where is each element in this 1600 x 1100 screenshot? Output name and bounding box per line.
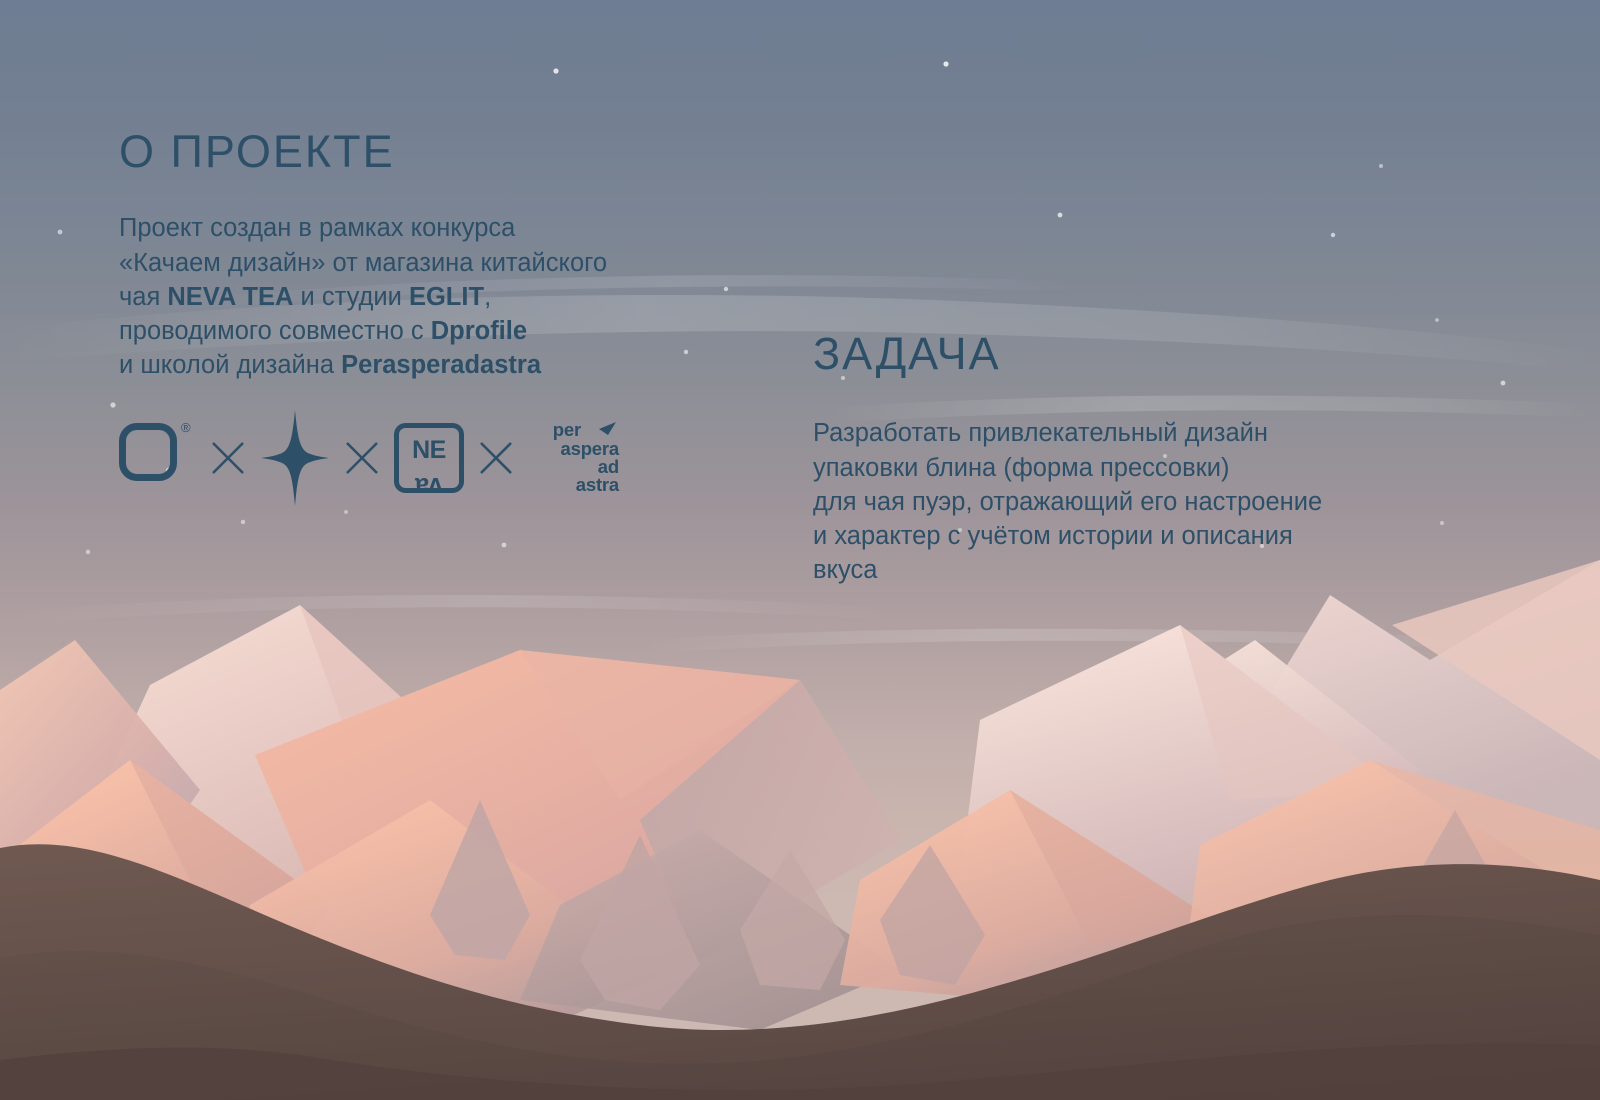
slide-root: О ПРОЕКТЕ Проект создан в рамках конкурс…: [0, 0, 1600, 1100]
squircle-icon: [119, 423, 177, 481]
logo-eglit-squircle[interactable]: ®: [119, 419, 197, 497]
logo-perasperadastra[interactable]: per aspera ad astra: [527, 421, 619, 494]
task-line-4: и характер с учётом истории и описания: [813, 522, 1293, 550]
logo-sparkle[interactable]: [259, 408, 331, 508]
task-paragraph: Разработать привлекательный дизайн упако…: [813, 416, 1493, 587]
cross-icon: [479, 441, 513, 475]
triangle-icon: [597, 422, 617, 436]
logo-separator-1: [197, 441, 259, 475]
task-line-3: для чая пуэр, отражающий его настроение: [813, 488, 1322, 516]
registered-trademark-icon: ®: [181, 421, 191, 434]
task-line-1: Разработать привлекательный дизайн: [813, 419, 1268, 447]
logo-separator-2: [331, 441, 393, 475]
cross-icon: [345, 441, 379, 475]
about-project-section: О ПРОЕКТЕ Проект создан в рамках конкурс…: [119, 128, 759, 383]
svg-text:NE: NE: [412, 436, 446, 464]
slide-content: О ПРОЕКТЕ Проект создан в рамках конкурс…: [0, 0, 1600, 1100]
about-project-paragraph: Проект создан в рамках конкурса «Качаем …: [119, 211, 759, 382]
logo-separator-3: [465, 441, 527, 475]
task-heading: ЗАДАЧА: [813, 330, 1493, 377]
cross-icon: [211, 441, 245, 475]
task-line-2: упаковки блина (форма прессовки): [813, 454, 1230, 482]
task-line-5: вкуса: [813, 556, 877, 584]
pa-line-4: astra: [527, 476, 619, 494]
neva-wordmark-icon: NE va: [393, 422, 465, 494]
partner-logo-row: ®: [119, 410, 619, 506]
svg-text:va: va: [414, 472, 442, 494]
about-project-heading: О ПРОЕКТЕ: [119, 128, 759, 175]
task-section: ЗАДАЧА Разработать привлекательный дизай…: [813, 330, 1493, 588]
logo-neva[interactable]: NE va: [393, 422, 465, 494]
four-point-star-icon: [259, 408, 331, 508]
